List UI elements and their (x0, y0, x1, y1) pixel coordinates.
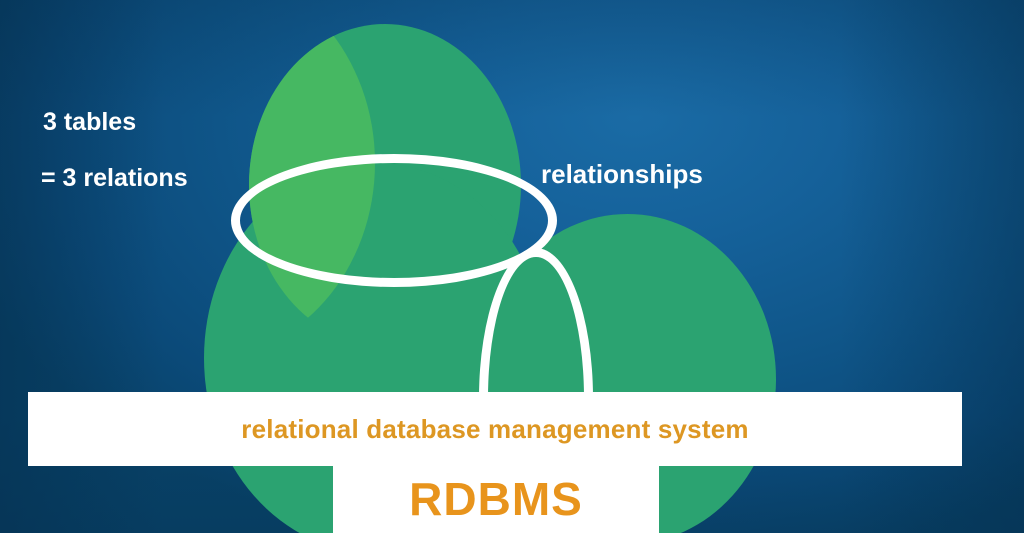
acronym-box: RDBMS (333, 465, 659, 533)
acronym-text: RDBMS (409, 472, 583, 526)
label-tables-count: 3 tables (43, 108, 136, 137)
slide-canvas: 3 tables = 3 relations relationships rel… (0, 0, 1024, 533)
label-relationships: relationships (541, 159, 703, 190)
caption-banner: relational database management system (28, 392, 962, 466)
label-relations-equivalence: = 3 relations (41, 164, 188, 193)
caption-banner-text: relational database management system (241, 414, 748, 445)
